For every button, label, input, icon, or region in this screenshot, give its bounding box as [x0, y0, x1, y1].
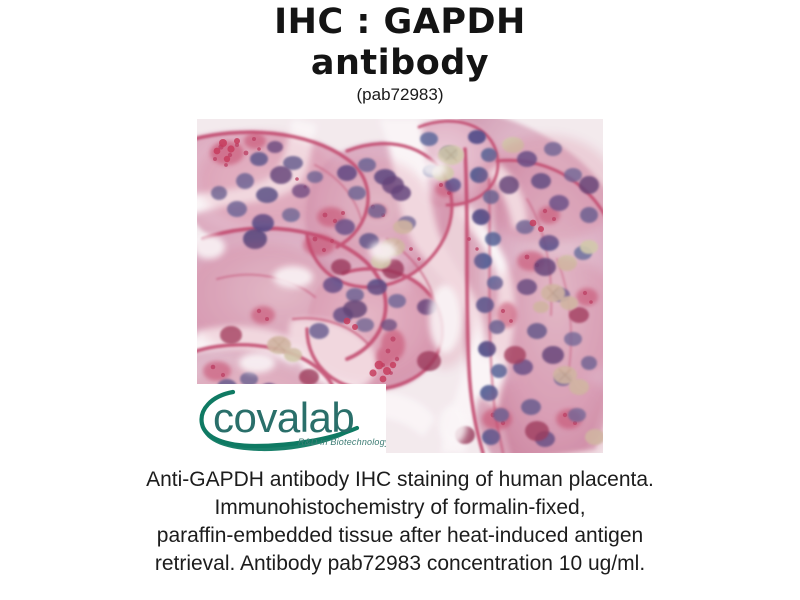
logo-tagline: R&D in Biotechnology	[298, 437, 386, 447]
title-line-secondary: antibody	[0, 43, 800, 84]
caption-line-1: Anti-GAPDH antibody IHC staining of huma…	[0, 466, 800, 494]
covalab-logo: covalab R&D in Biotechnology	[197, 384, 386, 453]
title-line-primary: IHC : GAPDH	[0, 2, 800, 43]
figure-caption: Anti-GAPDH antibody IHC staining of huma…	[0, 466, 800, 578]
caption-line-4: retrieval. Antibody pab72983 concentrati…	[0, 550, 800, 578]
figure-container: covalab R&D in Biotechnology	[197, 119, 603, 453]
caption-line-2: Immunohistochemistry of formalin-fixed,	[0, 494, 800, 522]
catalog-number: (pab72983)	[0, 85, 800, 105]
caption-line-3: paraffin-embedded tissue after heat-indu…	[0, 522, 800, 550]
covalab-logo-svg: covalab R&D in Biotechnology	[197, 384, 386, 453]
page-title: IHC : GAPDH antibody (pab72983)	[0, 0, 800, 105]
logo-wordmark: covalab	[213, 394, 354, 441]
